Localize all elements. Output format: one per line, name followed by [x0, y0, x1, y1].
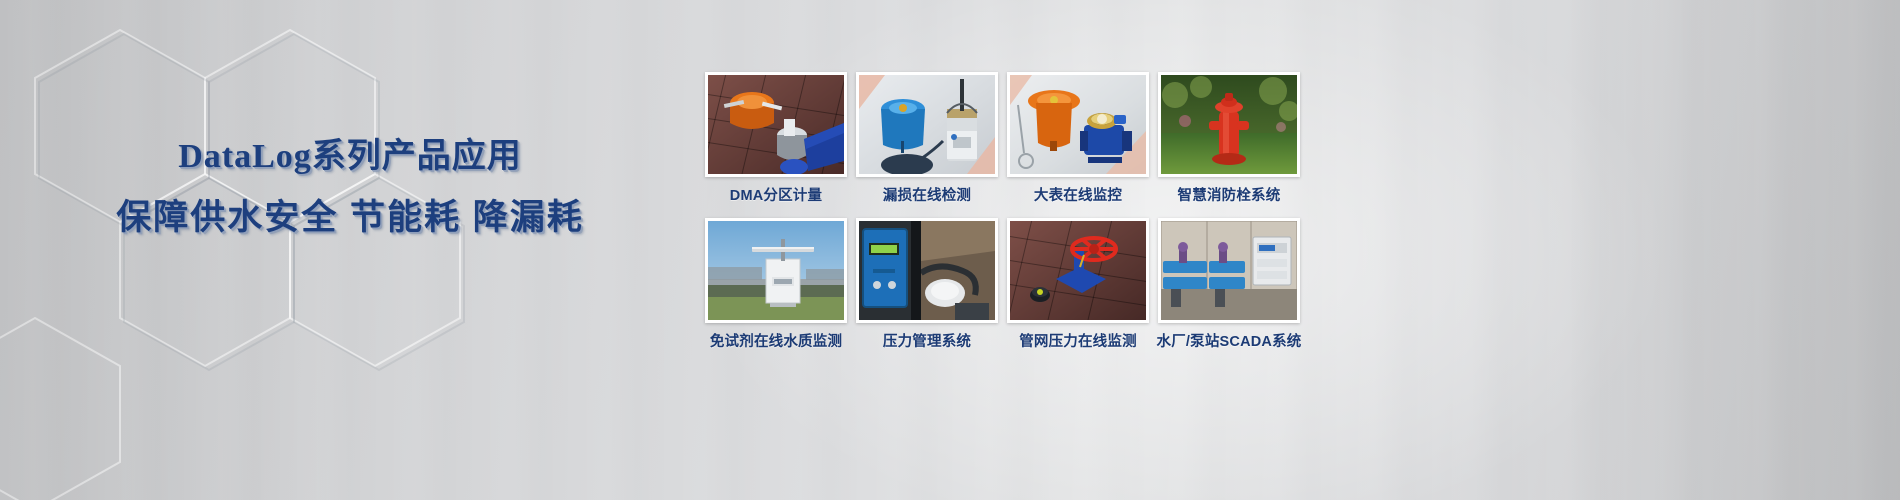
smart-hydrant-photo [1161, 75, 1297, 174]
headline-block: DataLog系列产品应用 保障供水安全 节能耗 降漏耗 [0, 140, 700, 235]
gallery-caption: 智慧消防栓系统 [1178, 184, 1281, 205]
thumbnail-frame[interactable] [1007, 72, 1149, 177]
pipe-pressure-photo [1010, 221, 1146, 320]
pressure-management-photo [859, 221, 995, 320]
product-gallery: DMA分区计量 [705, 72, 1300, 351]
leakage-detection-photo [859, 75, 995, 174]
gallery-caption: 压力管理系统 [883, 330, 971, 351]
thumbnail-frame[interactable] [705, 218, 847, 323]
gallery-item[interactable]: 水厂/泵站SCADA系统 [1158, 218, 1300, 351]
thumbnail-frame[interactable] [1158, 218, 1300, 323]
gallery-caption: 管网压力在线监测 [1019, 330, 1137, 351]
gallery-caption: 免试剂在线水质监测 [710, 330, 842, 351]
thumbnail-frame[interactable] [1007, 218, 1149, 323]
gallery-caption: 大表在线监控 [1034, 184, 1122, 205]
gallery-caption: 漏损在线检测 [883, 184, 971, 205]
headline-line-1: DataLog系列产品应用 [0, 140, 700, 174]
headline-line-2: 保障供水安全 节能耗 降漏耗 [0, 200, 700, 235]
scada-system-photo [1161, 221, 1297, 320]
promo-banner: DataLog系列产品应用 保障供水安全 节能耗 降漏耗 [0, 0, 1900, 500]
large-meter-monitor-photo [1010, 75, 1146, 174]
gallery-item[interactable]: 压力管理系统 [856, 218, 998, 351]
thumbnail-frame[interactable] [856, 218, 998, 323]
gallery-item[interactable]: 漏损在线检测 [856, 72, 998, 205]
gallery-caption: 水厂/泵站SCADA系统 [1157, 330, 1302, 351]
dma-metering-photo [708, 75, 844, 174]
thumbnail-frame[interactable] [1158, 72, 1300, 177]
gallery-item[interactable]: DMA分区计量 [705, 72, 847, 205]
gallery-item[interactable]: 免试剂在线水质监测 [705, 218, 847, 351]
gallery-item[interactable]: 管网压力在线监测 [1007, 218, 1149, 351]
thumbnail-frame[interactable] [705, 72, 847, 177]
water-quality-photo [708, 221, 844, 320]
gallery-caption: DMA分区计量 [730, 184, 822, 205]
gallery-item[interactable]: 智慧消防栓系统 [1158, 72, 1300, 205]
gallery-item[interactable]: 大表在线监控 [1007, 72, 1149, 205]
thumbnail-frame[interactable] [856, 72, 998, 177]
